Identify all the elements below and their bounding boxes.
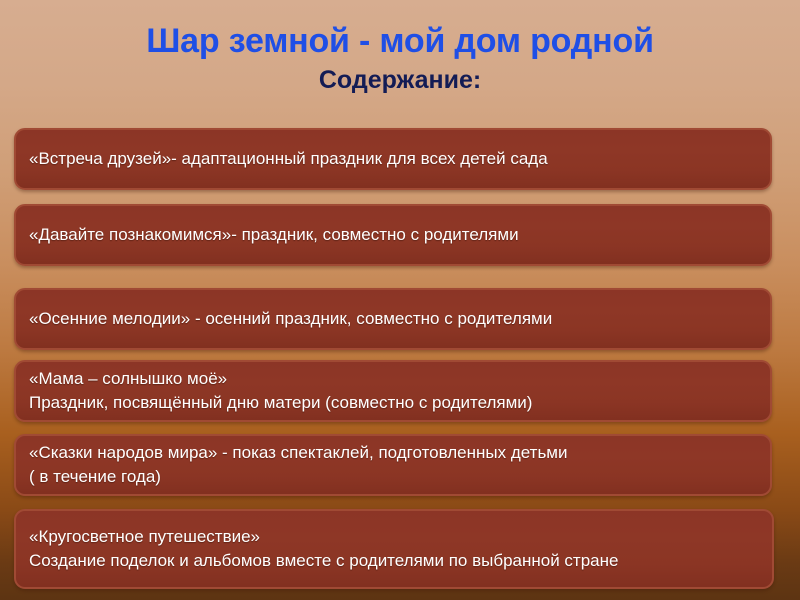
list-item: «Сказки народов мира» - показ спектаклей…	[14, 434, 772, 496]
list-item-line: «Осенние мелодии» - осенний праздник, со…	[29, 307, 757, 331]
list-item-line: «Сказки народов мира» - показ спектаклей…	[29, 441, 757, 465]
list-item-line: «Кругосветное путешествие»	[29, 525, 759, 549]
list-item: «Давайте познакомимся»- праздник, совмес…	[14, 204, 772, 266]
list-item: «Встреча друзей»- адаптационный праздник…	[14, 128, 772, 190]
page-title: Шар земной - мой дом родной	[0, 0, 800, 60]
list-item-line: «Давайте познакомимся»- праздник, совмес…	[29, 223, 757, 247]
list-item-line: ( в течение года)	[29, 465, 757, 489]
list-item-line: «Мама – солнышко моё»	[29, 367, 757, 391]
slide-subtitle: Содержание:	[0, 60, 800, 95]
contents-list: «Встреча друзей»- адаптационный праздник…	[14, 128, 772, 589]
list-item: «Мама – солнышко моё» Праздник, посвящён…	[14, 360, 772, 422]
slide-heading: Шар земной - мой дом родной Содержание:	[0, 0, 800, 95]
list-item-line: «Встреча друзей»- адаптационный праздник…	[29, 147, 757, 171]
list-item-line: Праздник, посвящённый дню матери (совмес…	[29, 391, 757, 415]
list-item: «Осенние мелодии» - осенний праздник, со…	[14, 288, 772, 350]
presentation-slide: Шар земной - мой дом родной Содержание: …	[0, 0, 800, 600]
list-item-line: Создание поделок и альбомов вместе с род…	[29, 549, 759, 573]
list-item: «Кругосветное путешествие» Создание поде…	[14, 509, 774, 589]
